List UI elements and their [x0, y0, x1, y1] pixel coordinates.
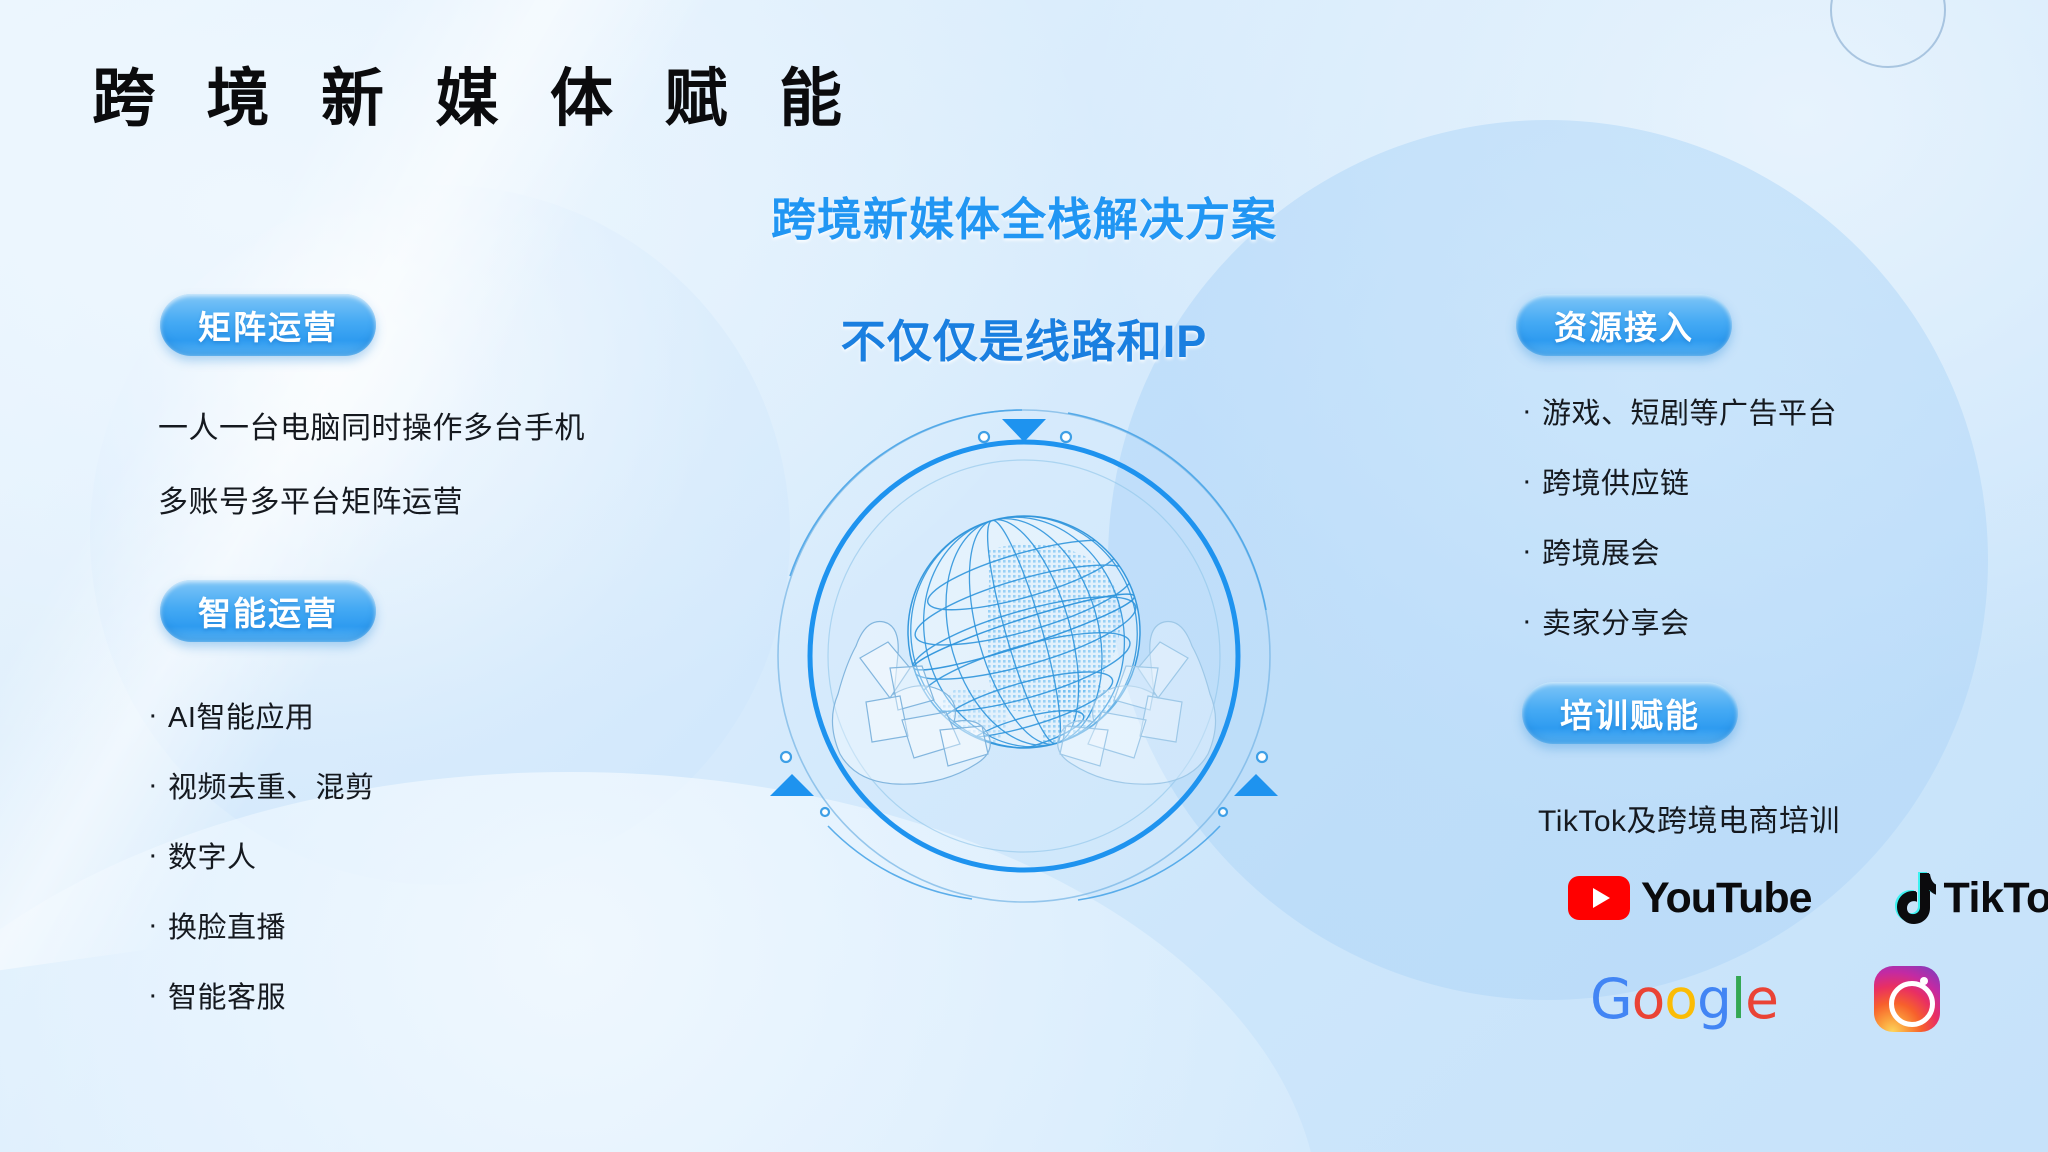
tiktok-note-icon — [1890, 872, 1936, 924]
list-item-label: 跨境供应链 — [1542, 460, 1690, 502]
list-item: · 跨境展会 — [1522, 530, 1837, 572]
badge-matrix-operation[interactable]: 矩阵运营 — [160, 294, 376, 356]
youtube-logo[interactable]: YouTube — [1568, 874, 1812, 923]
bullet-mark-icon: · — [148, 771, 168, 800]
list-item-label: 跨境展会 — [1542, 530, 1660, 572]
list-item: · 视频去重、混剪 — [148, 764, 375, 806]
list-item: · 卖家分享会 — [1522, 600, 1837, 642]
list-item-label: 智能客服 — [168, 974, 286, 1016]
left-bullet-list: · AI智能应用 · 视频去重、混剪 · 数字人 · 换脸直播 · 智能客服 — [148, 694, 375, 1044]
google-letter-o1: o — [1632, 967, 1665, 1031]
slide-canvas: 跨 境 新 媒 体 赋 能 跨境新媒体全栈解决方案 不仅仅是线路和IP — [0, 0, 2048, 1152]
bullet-mark-icon: · — [148, 701, 168, 730]
bullet-mark-icon: · — [1522, 397, 1542, 426]
google-letter-e: e — [1745, 967, 1778, 1031]
list-item-label: 游戏、短剧等广告平台 — [1542, 390, 1837, 432]
google-logo[interactable]: Google — [1590, 967, 1778, 1031]
page-title: 跨 境 新 媒 体 赋 能 — [92, 48, 859, 139]
badge-smart-operation[interactable]: 智能运营 — [160, 580, 376, 642]
bullet-mark-icon: · — [148, 841, 168, 870]
logo-row-bottom: Google — [1590, 966, 1940, 1032]
bullet-mark-icon: · — [1522, 537, 1542, 566]
list-item-label: 卖家分享会 — [1542, 600, 1690, 642]
list-item: · 数字人 — [148, 834, 375, 876]
bullet-mark-icon: · — [1522, 607, 1542, 636]
badge-resource-access[interactable]: 资源接入 — [1516, 294, 1732, 356]
list-item: · 智能客服 — [148, 974, 375, 1016]
list-item-label: 视频去重、混剪 — [168, 764, 375, 806]
left-text-line-1: 一人一台电脑同时操作多台手机 — [158, 403, 585, 447]
decorative-ring-icon — [1830, 0, 1946, 68]
list-item: · 跨境供应链 — [1522, 460, 1837, 502]
google-letter-g1: G — [1590, 967, 1632, 1031]
list-item: · 游戏、短剧等广告平台 — [1522, 390, 1837, 432]
center-heading-primary: 跨境新媒体全栈解决方案 — [0, 183, 2048, 248]
instagram-logo[interactable] — [1874, 966, 1940, 1032]
tiktok-wordmark: TikTok — [1944, 874, 2048, 923]
list-item-label: 换脸直播 — [168, 904, 286, 946]
badge-training-empowerment[interactable]: 培训赋能 — [1522, 682, 1738, 744]
bullet-mark-icon: · — [148, 911, 168, 940]
right-training-line: TikTok及跨境电商培训 — [1538, 796, 1840, 840]
globe-in-hands-illustration — [768, 400, 1280, 912]
list-item-label: 数字人 — [168, 834, 257, 876]
bullet-mark-icon: · — [148, 981, 168, 1010]
youtube-play-icon — [1568, 876, 1630, 920]
youtube-wordmark: YouTube — [1641, 874, 1812, 923]
left-text-line-2: 多账号多平台矩阵运营 — [158, 477, 463, 521]
right-bullet-list: · 游戏、短剧等广告平台 · 跨境供应链 · 跨境展会 · 卖家分享会 — [1522, 390, 1837, 670]
bullet-mark-icon: · — [1522, 467, 1542, 496]
tiktok-logo[interactable]: TikTok — [1890, 872, 2048, 924]
google-letter-l: l — [1731, 967, 1745, 1031]
logo-row-top: YouTube TikTok — [1568, 872, 2048, 924]
list-item: · 换脸直播 — [148, 904, 375, 946]
list-item: · AI智能应用 — [148, 694, 375, 736]
list-item-label: AI智能应用 — [168, 694, 314, 736]
google-letter-o2: o — [1664, 967, 1697, 1031]
google-letter-g2: g — [1697, 967, 1731, 1031]
